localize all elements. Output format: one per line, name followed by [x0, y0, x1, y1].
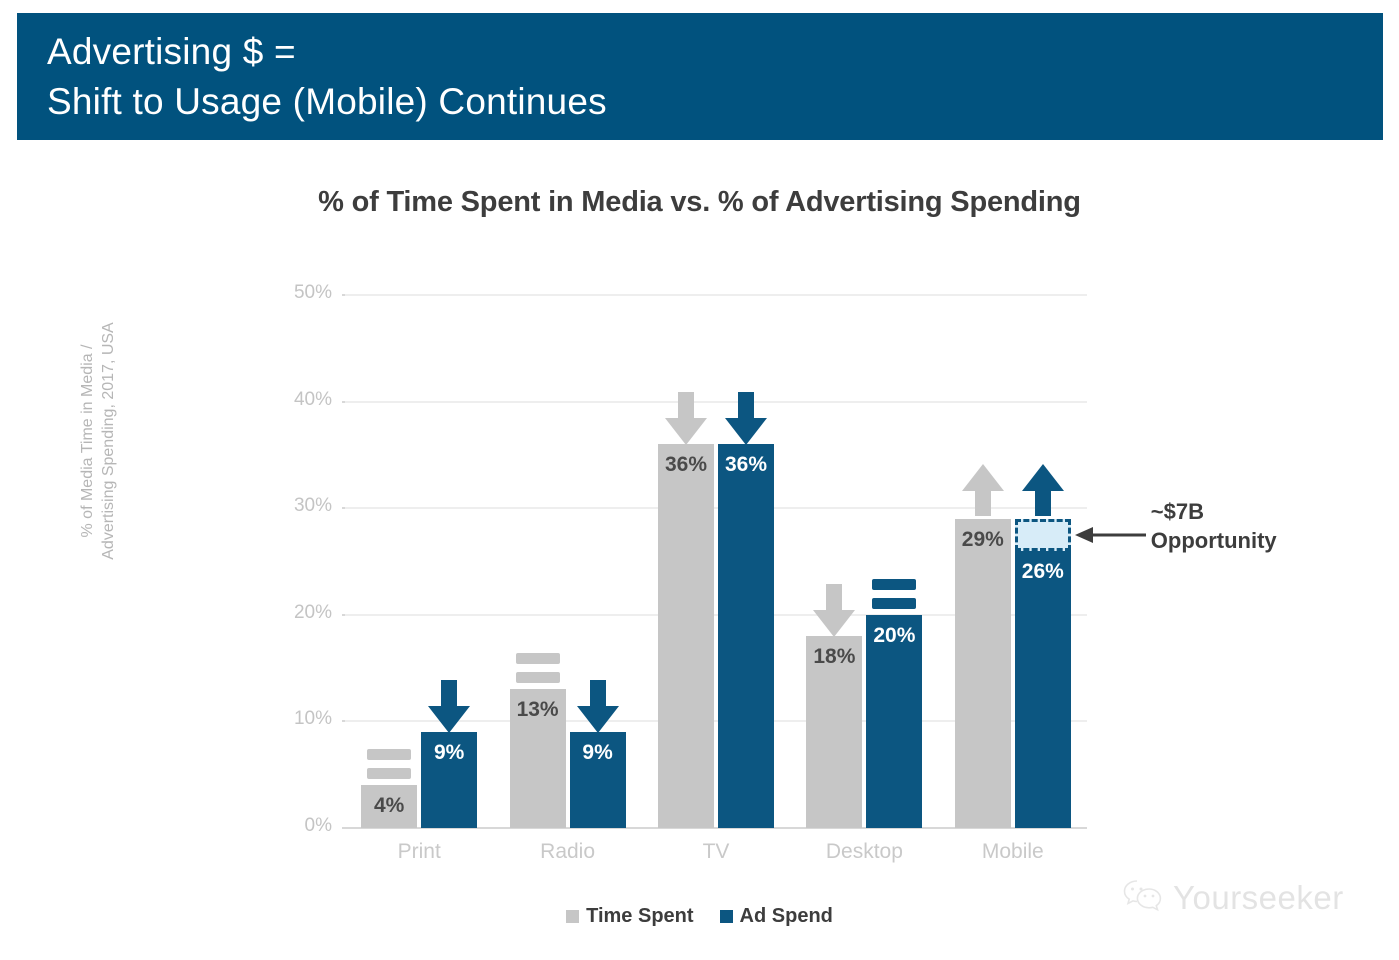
arrow-down-icon — [724, 392, 768, 451]
wechat-icon — [1122, 878, 1164, 917]
bar-tv-time-spent: 36% — [658, 444, 714, 828]
bar-value-label: 9% — [570, 741, 626, 765]
gridline — [345, 294, 1087, 296]
arrow-down-icon — [812, 584, 856, 643]
y-axis-tick-label: 0% — [272, 815, 332, 837]
bar-radio-ad-spend: 9% — [570, 732, 626, 828]
bar-radio-time-spent: 13% — [510, 689, 566, 828]
y-axis-tick-label: 10% — [272, 708, 332, 730]
opportunity-box — [1015, 519, 1071, 551]
bar-desktop-time-spent: 18% — [806, 636, 862, 828]
equals-icon-bar — [516, 653, 560, 664]
legend-label: Ad Spend — [740, 905, 833, 928]
bar-print-ad-spend: 9% — [421, 732, 477, 828]
arrow-down-icon — [576, 680, 620, 739]
bar-value-label: 20% — [866, 624, 922, 648]
x-axis-category-label: Mobile — [913, 840, 1113, 864]
equals-icon — [367, 749, 411, 779]
bar-value-label: 13% — [510, 698, 566, 722]
y-axis-tick-label: 30% — [272, 495, 332, 517]
y-axis-tick-label: 40% — [272, 389, 332, 411]
bar-value-label: 26% — [1015, 560, 1071, 584]
bar-value-label: 18% — [806, 645, 862, 669]
equals-icon-bar — [872, 598, 916, 609]
bar-value-label: 4% — [361, 794, 417, 818]
legend-swatch — [566, 910, 579, 923]
bar-value-label: 36% — [718, 453, 774, 477]
bar-desktop-ad-spend: 20% — [866, 615, 922, 828]
annotation-arrow-left-icon — [1075, 526, 1147, 549]
y-axis-tick-label: 20% — [272, 602, 332, 624]
legend-label: Time Spent — [586, 905, 693, 928]
y-axis-tick-label: 50% — [272, 282, 332, 304]
arrow-up-icon — [961, 463, 1005, 522]
watermark: Yourseeker — [1122, 878, 1344, 917]
gridline — [345, 401, 1087, 403]
equals-icon-bar — [367, 768, 411, 779]
equals-icon — [872, 579, 916, 609]
bar-value-label: 36% — [658, 453, 714, 477]
equals-icon-bar — [367, 749, 411, 760]
bar-print-time-spent: 4% — [361, 785, 417, 828]
bar-chart: % of Media Time in Media / Advertising S… — [0, 0, 1399, 960]
arrow-up-icon — [1021, 463, 1065, 522]
watermark-text: Yourseeker — [1173, 879, 1344, 917]
equals-icon-bar — [516, 672, 560, 683]
legend-item-ad-spend[interactable]: Ad Spend — [720, 905, 833, 928]
opportunity-annotation-label: ~$7B Opportunity — [1151, 497, 1277, 555]
equals-icon-bar — [872, 579, 916, 590]
bar-tv-ad-spend: 36% — [718, 444, 774, 828]
y-axis-title: % of Media Time in Media / Advertising S… — [77, 251, 119, 631]
bar-mobile-time-spent: 29% — [955, 519, 1011, 828]
legend-item-time-spent[interactable]: Time Spent — [566, 905, 693, 928]
bar-value-label: 9% — [421, 741, 477, 765]
arrow-down-icon — [427, 680, 471, 739]
bar-mobile-ad-spend: 26% — [1015, 551, 1071, 828]
bar-value-label: 29% — [955, 528, 1011, 552]
arrow-down-icon — [664, 392, 708, 451]
equals-icon — [516, 653, 560, 683]
legend-swatch — [720, 910, 733, 923]
